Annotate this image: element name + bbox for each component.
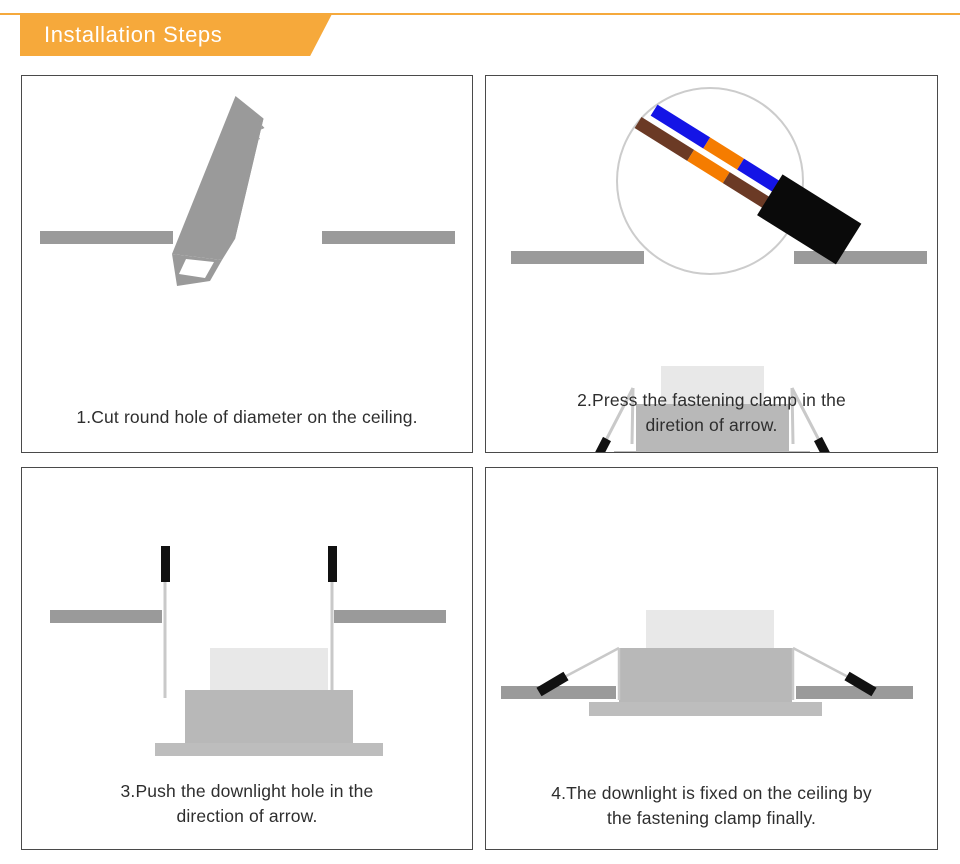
ceiling-bar-right xyxy=(794,251,927,264)
ceiling-bar-right xyxy=(334,610,446,623)
ceiling-bar-right xyxy=(796,686,913,699)
step-caption-2: 2.Press the fastening clamp in the diret… xyxy=(494,388,929,438)
ceiling-bar-right xyxy=(322,231,455,244)
step-caption-3: 3.Push the downlight hole in the directi… xyxy=(30,779,464,829)
downlight-top-box xyxy=(210,648,328,692)
ceiling-bar-left xyxy=(501,686,616,699)
page-header: Installation Steps xyxy=(0,0,960,70)
step-panel-3: 3.Push the downlight hole in the directi… xyxy=(21,467,473,850)
ceiling-bar-left xyxy=(511,251,644,264)
arrow-right xyxy=(818,439,833,453)
step-panel-4: 4.The downlight is fixed on the ceiling … xyxy=(485,467,938,850)
step-panel-2: 2.Press the fastening clamp in the diret… xyxy=(485,75,938,453)
step-caption-4: 4.The downlight is fixed on the ceiling … xyxy=(494,781,929,831)
downlight-flange xyxy=(614,451,810,453)
arrow-left xyxy=(161,546,170,582)
step-panel-1: 1.Cut round hole of diameter on the ceil… xyxy=(21,75,473,453)
ceiling-bar-left xyxy=(50,610,162,623)
illustration-saw-cutting-ceiling xyxy=(22,76,472,452)
downlight-body xyxy=(619,648,792,702)
downlight-body xyxy=(185,690,353,743)
page-title: Installation Steps xyxy=(44,21,222,49)
step-caption-1: 1.Cut round hole of diameter on the ceil… xyxy=(30,405,464,430)
ceiling-bar-left xyxy=(40,231,173,244)
downlight-top-box xyxy=(646,610,774,652)
downlight-flange xyxy=(589,702,822,716)
arrow-left xyxy=(592,439,607,453)
handsaw-icon xyxy=(172,96,265,286)
downlight-flange xyxy=(155,743,383,756)
arrow-right xyxy=(328,546,337,582)
